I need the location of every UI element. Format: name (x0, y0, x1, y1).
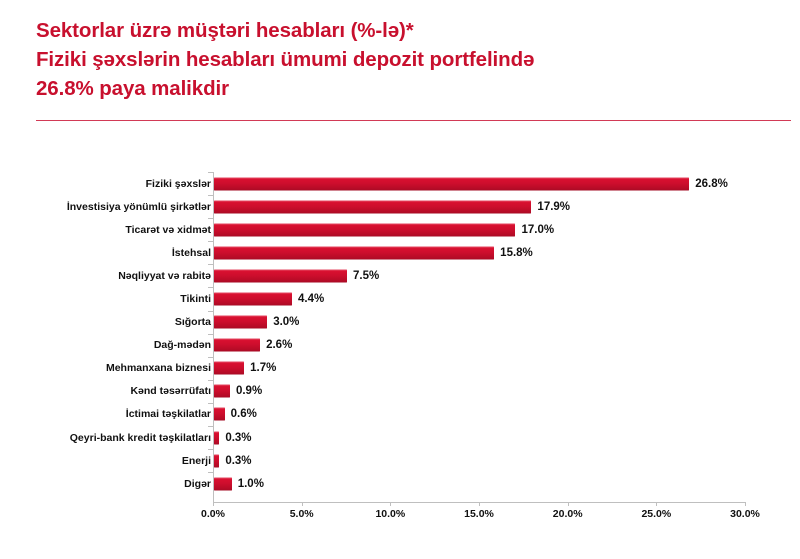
x-axis-tick-mark (568, 502, 569, 506)
category-label: Ticarət və xidmət (125, 224, 211, 236)
y-axis-tick (208, 380, 213, 381)
y-axis-tick (208, 264, 213, 265)
bar-row: İnvestisiya yönümlü şirkətlər17.9% (0, 195, 800, 218)
x-axis-tick-label: 5.0% (290, 508, 314, 520)
bar-row: Tikinti4.4% (0, 287, 800, 310)
bar (214, 200, 531, 213)
bar-value-label: 1.0% (238, 478, 264, 490)
bar-row: Digər1.0% (0, 472, 800, 495)
category-label: İstehsal (172, 247, 211, 259)
x-axis-tick-mark (390, 502, 391, 506)
y-axis-tick (208, 403, 213, 404)
bar (214, 454, 219, 467)
category-label: Enerji (182, 455, 211, 467)
bar (214, 431, 219, 444)
y-axis-tick (208, 287, 213, 288)
bar-value-label: 1.7% (250, 362, 276, 374)
category-label: Mehmanxana biznesi (106, 362, 211, 374)
bar (214, 177, 689, 190)
category-label: İctimai təşkilatlar (126, 408, 211, 420)
x-axis-ticks: 0.0%5.0%10.0%15.0%20.0%25.0%30.0% (0, 502, 800, 526)
bar (214, 293, 292, 306)
category-label: Fiziki şəxslər (146, 178, 211, 190)
category-label: Tikinti (180, 293, 211, 305)
x-axis-tick-label: 30.0% (730, 508, 760, 520)
bar-value-label: 0.3% (225, 432, 251, 444)
x-axis-tick-label: 25.0% (641, 508, 671, 520)
bar (214, 339, 260, 352)
x-axis-tick-label: 20.0% (553, 508, 583, 520)
y-axis-tick (208, 195, 213, 196)
x-axis-tick-mark (213, 502, 214, 506)
bar-row: Dağ-mədən2.6% (0, 334, 800, 357)
bar-row: İctimai təşkilatlar0.6% (0, 403, 800, 426)
y-axis-tick (208, 334, 213, 335)
y-axis-tick (208, 472, 213, 473)
y-axis-tick (208, 172, 213, 173)
bar (214, 316, 267, 329)
bar (214, 477, 232, 490)
y-axis-tick (208, 241, 213, 242)
bar-row: Kənd təsərrüfatı0.9% (0, 380, 800, 403)
x-axis-tick-mark (745, 502, 746, 506)
bar-row: Ticarət və xidmət17.0% (0, 218, 800, 241)
y-axis-tick (208, 311, 213, 312)
bar-value-label: 15.8% (500, 247, 533, 259)
bar (214, 362, 244, 375)
bar (214, 385, 230, 398)
bar-value-label: 0.3% (225, 455, 251, 467)
x-axis-tick-mark (656, 502, 657, 506)
x-axis-tick-label: 10.0% (375, 508, 405, 520)
y-axis-tick (208, 218, 213, 219)
bar-value-label: 17.0% (521, 224, 554, 236)
bar-row: Enerji0.3% (0, 449, 800, 472)
category-label: Dağ-mədən (154, 339, 211, 351)
y-axis-tick (208, 357, 213, 358)
slide-canvas: Sektorlar üzrə müştəri hesabları (%-lə)*… (0, 0, 800, 559)
bar (214, 223, 515, 236)
bar-row: Qeyri-bank kredit təşkilatları0.3% (0, 426, 800, 449)
bar-value-label: 0.6% (231, 408, 257, 420)
bar-value-label: 0.9% (236, 385, 262, 397)
category-label: Digər (184, 478, 211, 490)
bar (214, 246, 494, 259)
category-label: Nəqliyyat və rabitə (118, 270, 211, 282)
bar-row: Fiziki şəxslər26.8% (0, 172, 800, 195)
bar-value-label: 3.0% (273, 316, 299, 328)
x-axis-tick-mark (302, 502, 303, 506)
category-label: Qeyri-bank kredit təşkilatları (70, 432, 211, 444)
bar-value-label: 7.5% (353, 270, 379, 282)
x-axis-tick-label: 0.0% (201, 508, 225, 520)
bar-rows: Fiziki şəxslər26.8%İnvestisiya yönümlü ş… (0, 172, 800, 495)
category-label: İnvestisiya yönümlü şirkətlər (67, 201, 211, 213)
bar-row: İstehsal15.8% (0, 241, 800, 264)
bar-chart: Fiziki şəxslər26.8%İnvestisiya yönümlü ş… (0, 0, 800, 559)
bar-row: Mehmanxana biznesi1.7% (0, 357, 800, 380)
category-label: Kənd təsərrüfatı (130, 385, 211, 397)
bar-value-label: 2.6% (266, 339, 292, 351)
y-axis-tick (208, 449, 213, 450)
bar (214, 269, 347, 282)
bar-row: Sığorta3.0% (0, 311, 800, 334)
x-axis-tick-mark (479, 502, 480, 506)
bar-value-label: 17.9% (537, 201, 570, 213)
bar-value-label: 4.4% (298, 293, 324, 305)
x-axis-tick-label: 15.0% (464, 508, 494, 520)
bar (214, 408, 225, 421)
bar-value-label: 26.8% (695, 178, 728, 190)
bar-row: Nəqliyyat və rabitə7.5% (0, 264, 800, 287)
category-label: Sığorta (175, 316, 211, 328)
y-axis-tick (208, 426, 213, 427)
